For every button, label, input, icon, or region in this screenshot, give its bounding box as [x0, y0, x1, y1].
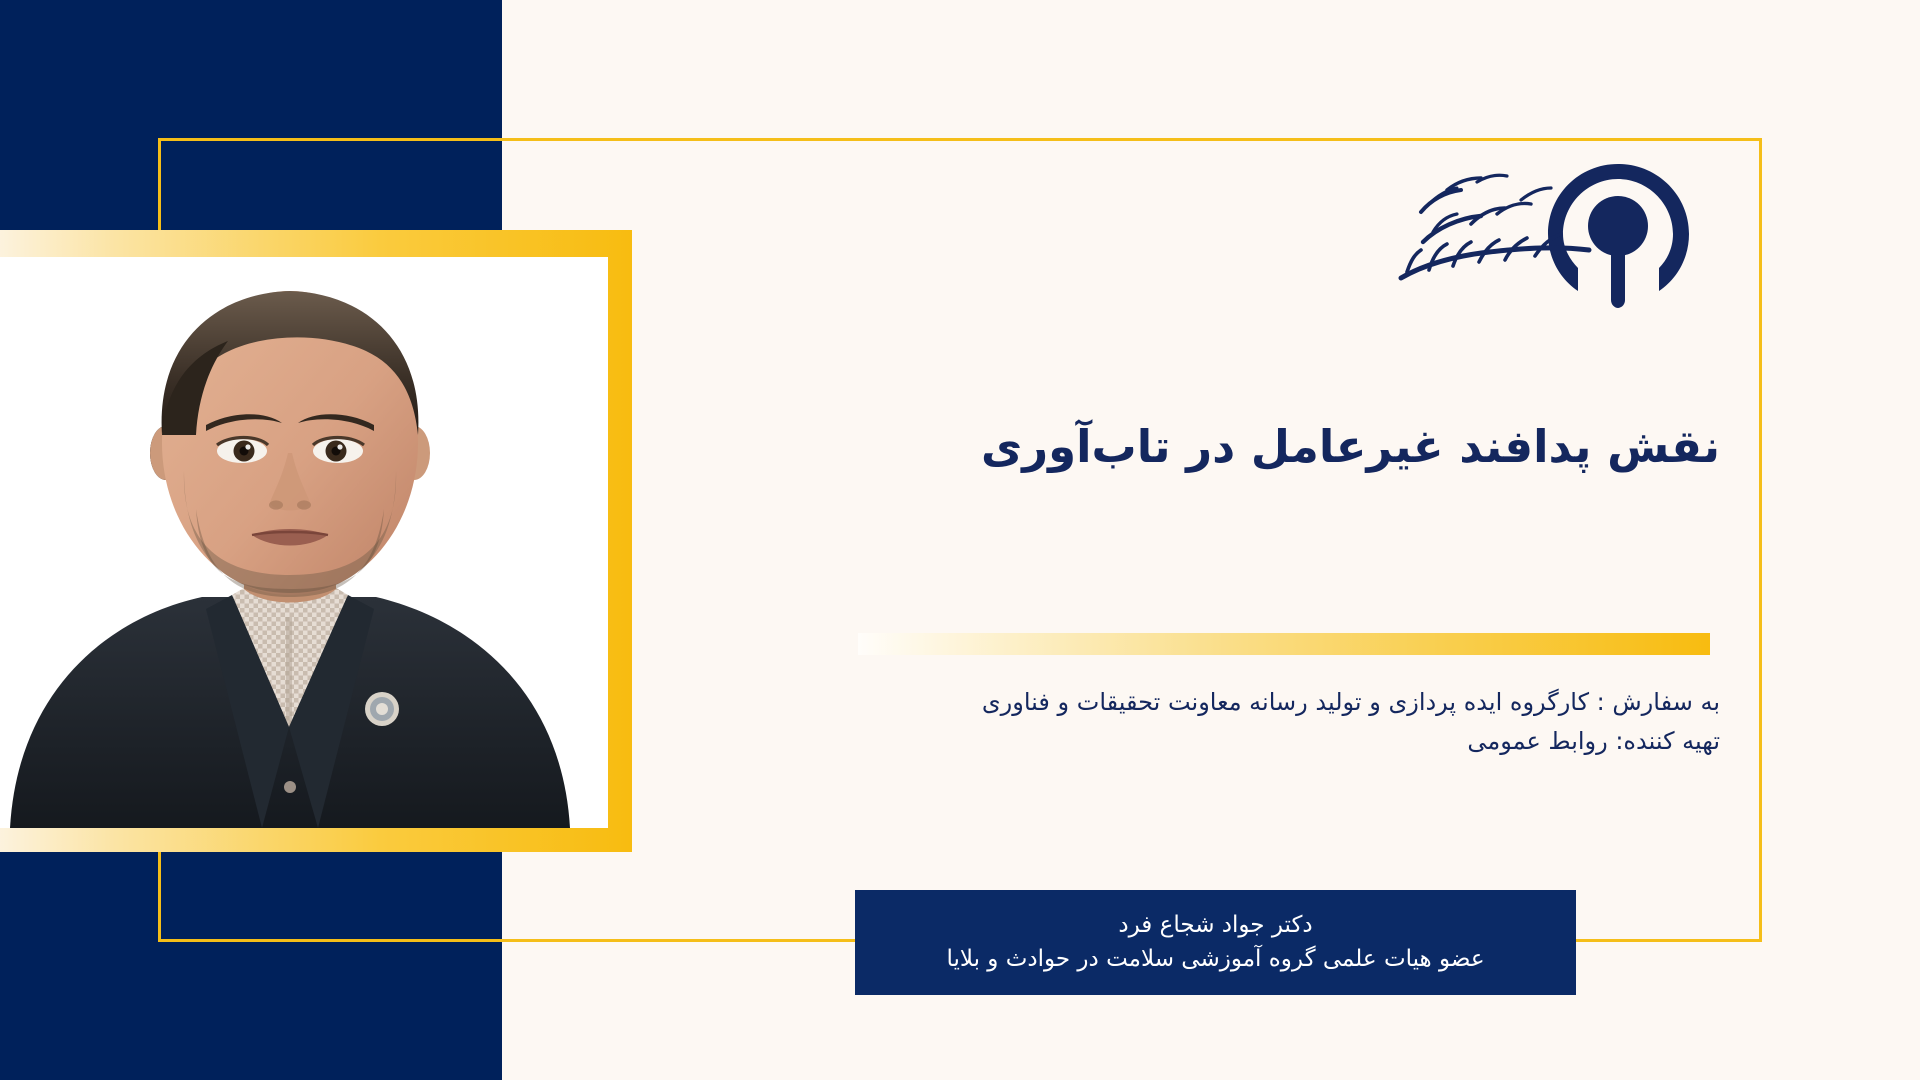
speaker-info-box: دکتر جواد شجاع فرد عضو هیات علمی گروه آم… [855, 890, 1576, 995]
speaker-portrait-image [0, 257, 608, 828]
poster-canvas: نقش پدافند غیرعامل در تاب‌آوری به سفارش … [0, 0, 1920, 1080]
gold-gradient-divider [858, 633, 1710, 655]
speaker-name: دکتر جواد شجاع فرد [1118, 909, 1312, 942]
portrait-photo-plate [0, 257, 608, 828]
credits-block: به سفارش : کارگروه ایده پردازی و تولید ر… [620, 683, 1720, 761]
credit-produced-by: تهیه کننده: روابط عمومی [620, 722, 1720, 761]
credit-commissioned-by: به سفارش : کارگروه ایده پردازی و تولید ر… [620, 683, 1720, 722]
university-logo [1385, 160, 1725, 320]
university-logo-icon [1385, 160, 1715, 310]
page-title: نقش پدافند غیرعامل در تاب‌آوری [680, 415, 1720, 478]
speaker-role: عضو هیات علمی گروه آموزشی سلامت در حوادث… [946, 943, 1484, 976]
